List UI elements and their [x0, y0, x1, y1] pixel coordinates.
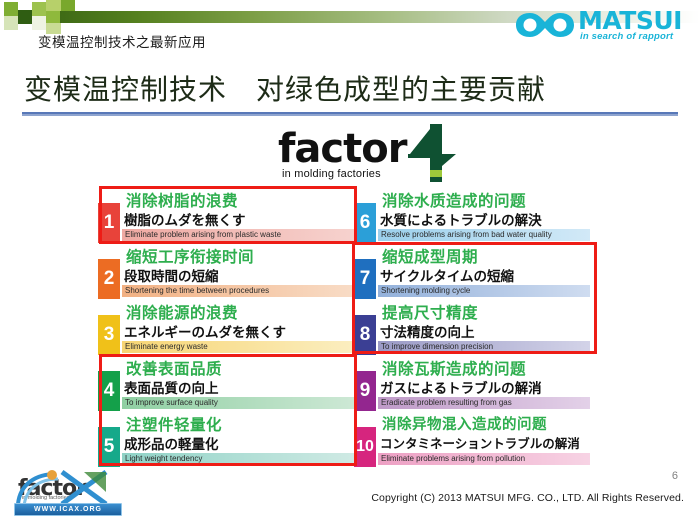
item-caption-en: Eradicate problem resulting from gas — [381, 397, 512, 409]
benefit-item[interactable]: 2 缩短工序衔接时间 段取時間の短縮 Shortening the time b… — [122, 246, 354, 302]
deco-square — [4, 2, 18, 16]
deco-square — [4, 16, 18, 30]
deco-square — [32, 2, 46, 16]
icax-watermark: factor in molding factories WWW.ICAX.ORG — [10, 470, 128, 518]
item-title-cn: 缩短工序衔接时间 — [126, 245, 254, 267]
item-title-cn: 消除瓦斯造成的问题 — [382, 357, 526, 379]
factor4-numeral-icon — [400, 124, 462, 182]
page-number: 6 — [672, 470, 678, 482]
factor4-wordmark: factor — [278, 126, 406, 172]
deco-square — [46, 0, 61, 11]
benefit-item[interactable]: 10 消除异物混入造成的问题 コンタミネーショントラブルの解消 Eliminat… — [378, 414, 590, 470]
item-caption-en: Eliminate problems arising from pollutio… — [381, 453, 525, 465]
deco-square — [18, 10, 32, 24]
benefit-item[interactable]: 6 消除水质造成的问题 水質によるトラブルの解決 Resolve problem… — [378, 190, 590, 246]
item-number-badge: 9 — [354, 371, 376, 411]
matsui-mark-icon — [516, 11, 574, 39]
deco-square — [46, 11, 61, 23]
item-title-jp: ガスによるトラブルの解消 — [380, 377, 542, 397]
factor4-subtitle: in molding factories — [282, 168, 381, 180]
matsui-logo: MATSUI in search of rapport — [516, 6, 692, 46]
item-title-cn: 消除异物混入造成的问题 — [382, 413, 547, 434]
deco-square — [61, 0, 75, 11]
benefit-item[interactable]: 3 消除能源的浪费 エネルギーのムダを無くす Eliminate energy … — [122, 302, 354, 358]
item-number-badge: 3 — [98, 315, 120, 355]
item-title-jp: コンタミネーショントラブルの解消 — [380, 433, 580, 452]
slide-subtitle: 变模温控制技术之最新应用 — [38, 31, 206, 51]
item-caption-en: Shortening the time between procedures — [125, 285, 269, 297]
item-title-cn: 消除能源的浪费 — [126, 301, 238, 323]
item-number-badge: 6 — [354, 203, 376, 243]
highlight-box-items-4-5 — [99, 354, 357, 466]
item-title-cn: 消除水质造成的问题 — [382, 189, 526, 211]
item-caption-en: Eliminate energy waste — [125, 341, 208, 353]
item-title-jp: エネルギーのムダを無くす — [124, 321, 286, 341]
benefit-item[interactable]: 9 消除瓦斯造成的问题 ガスによるトラブルの解消 Eradicate probl… — [378, 358, 590, 414]
item-title-jp: 段取時間の短縮 — [124, 265, 219, 285]
page-title: 变模温控制技术 对绿色成型的主要贡献 — [24, 68, 546, 108]
matsui-tagline: in search of rapport — [580, 31, 673, 42]
icax-url-banner: WWW.ICAX.ORG — [14, 503, 122, 516]
item-title-jp: 水質によるトラブルの解決 — [380, 209, 542, 229]
item-number-badge: 10 — [354, 427, 376, 467]
highlight-box-item-1 — [99, 186, 357, 244]
highlight-box-items-7-8 — [352, 242, 597, 354]
deco-square — [32, 16, 46, 30]
copyright-text: Copyright (C) 2013 MATSUI MFG. CO., LTD.… — [371, 492, 684, 504]
item-caption-en: Resolve problems arising from bad water … — [381, 229, 552, 241]
item-number-badge: 2 — [98, 259, 120, 299]
factor4-logo: factor in molding factories — [278, 126, 478, 184]
title-divider — [22, 112, 678, 116]
